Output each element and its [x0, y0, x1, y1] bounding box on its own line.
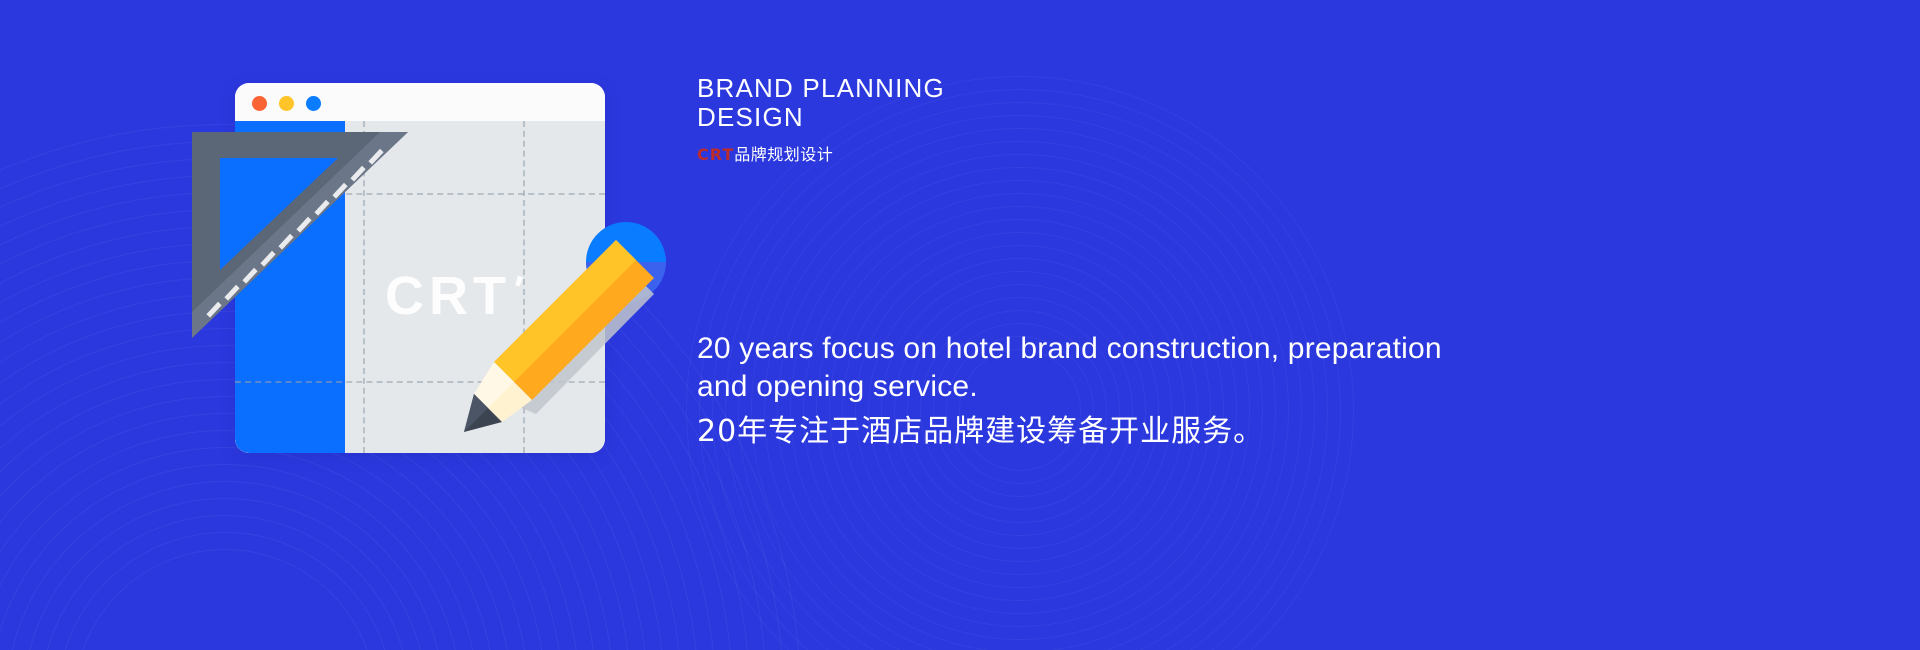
- subline: CRT品牌规划设计: [697, 141, 833, 165]
- tagline-chinese: 20年专注于酒店品牌建设筹备开业服务。: [697, 412, 1457, 452]
- maximize-dot-icon: [306, 96, 321, 111]
- close-dot-icon: [252, 96, 267, 111]
- headline: BRAND PLANNING DESIGN: [697, 74, 945, 132]
- banner-copy: BRAND PLANNING DESIGN CRT品牌规划设计 20 years…: [697, 0, 1597, 650]
- subline-text: 品牌规划设计: [734, 145, 833, 164]
- minimize-dot-icon: [279, 96, 294, 111]
- pencil-icon: [440, 218, 680, 468]
- brand-illustration: CRT': [190, 78, 690, 468]
- brand-banner: CRT': [0, 0, 1920, 650]
- set-square-ruler-icon: [190, 130, 412, 342]
- subline-brand: CRT: [697, 145, 734, 164]
- tagline-english: 20 years focus on hotel brand constructi…: [697, 330, 1457, 406]
- window-titlebar: [235, 83, 605, 122]
